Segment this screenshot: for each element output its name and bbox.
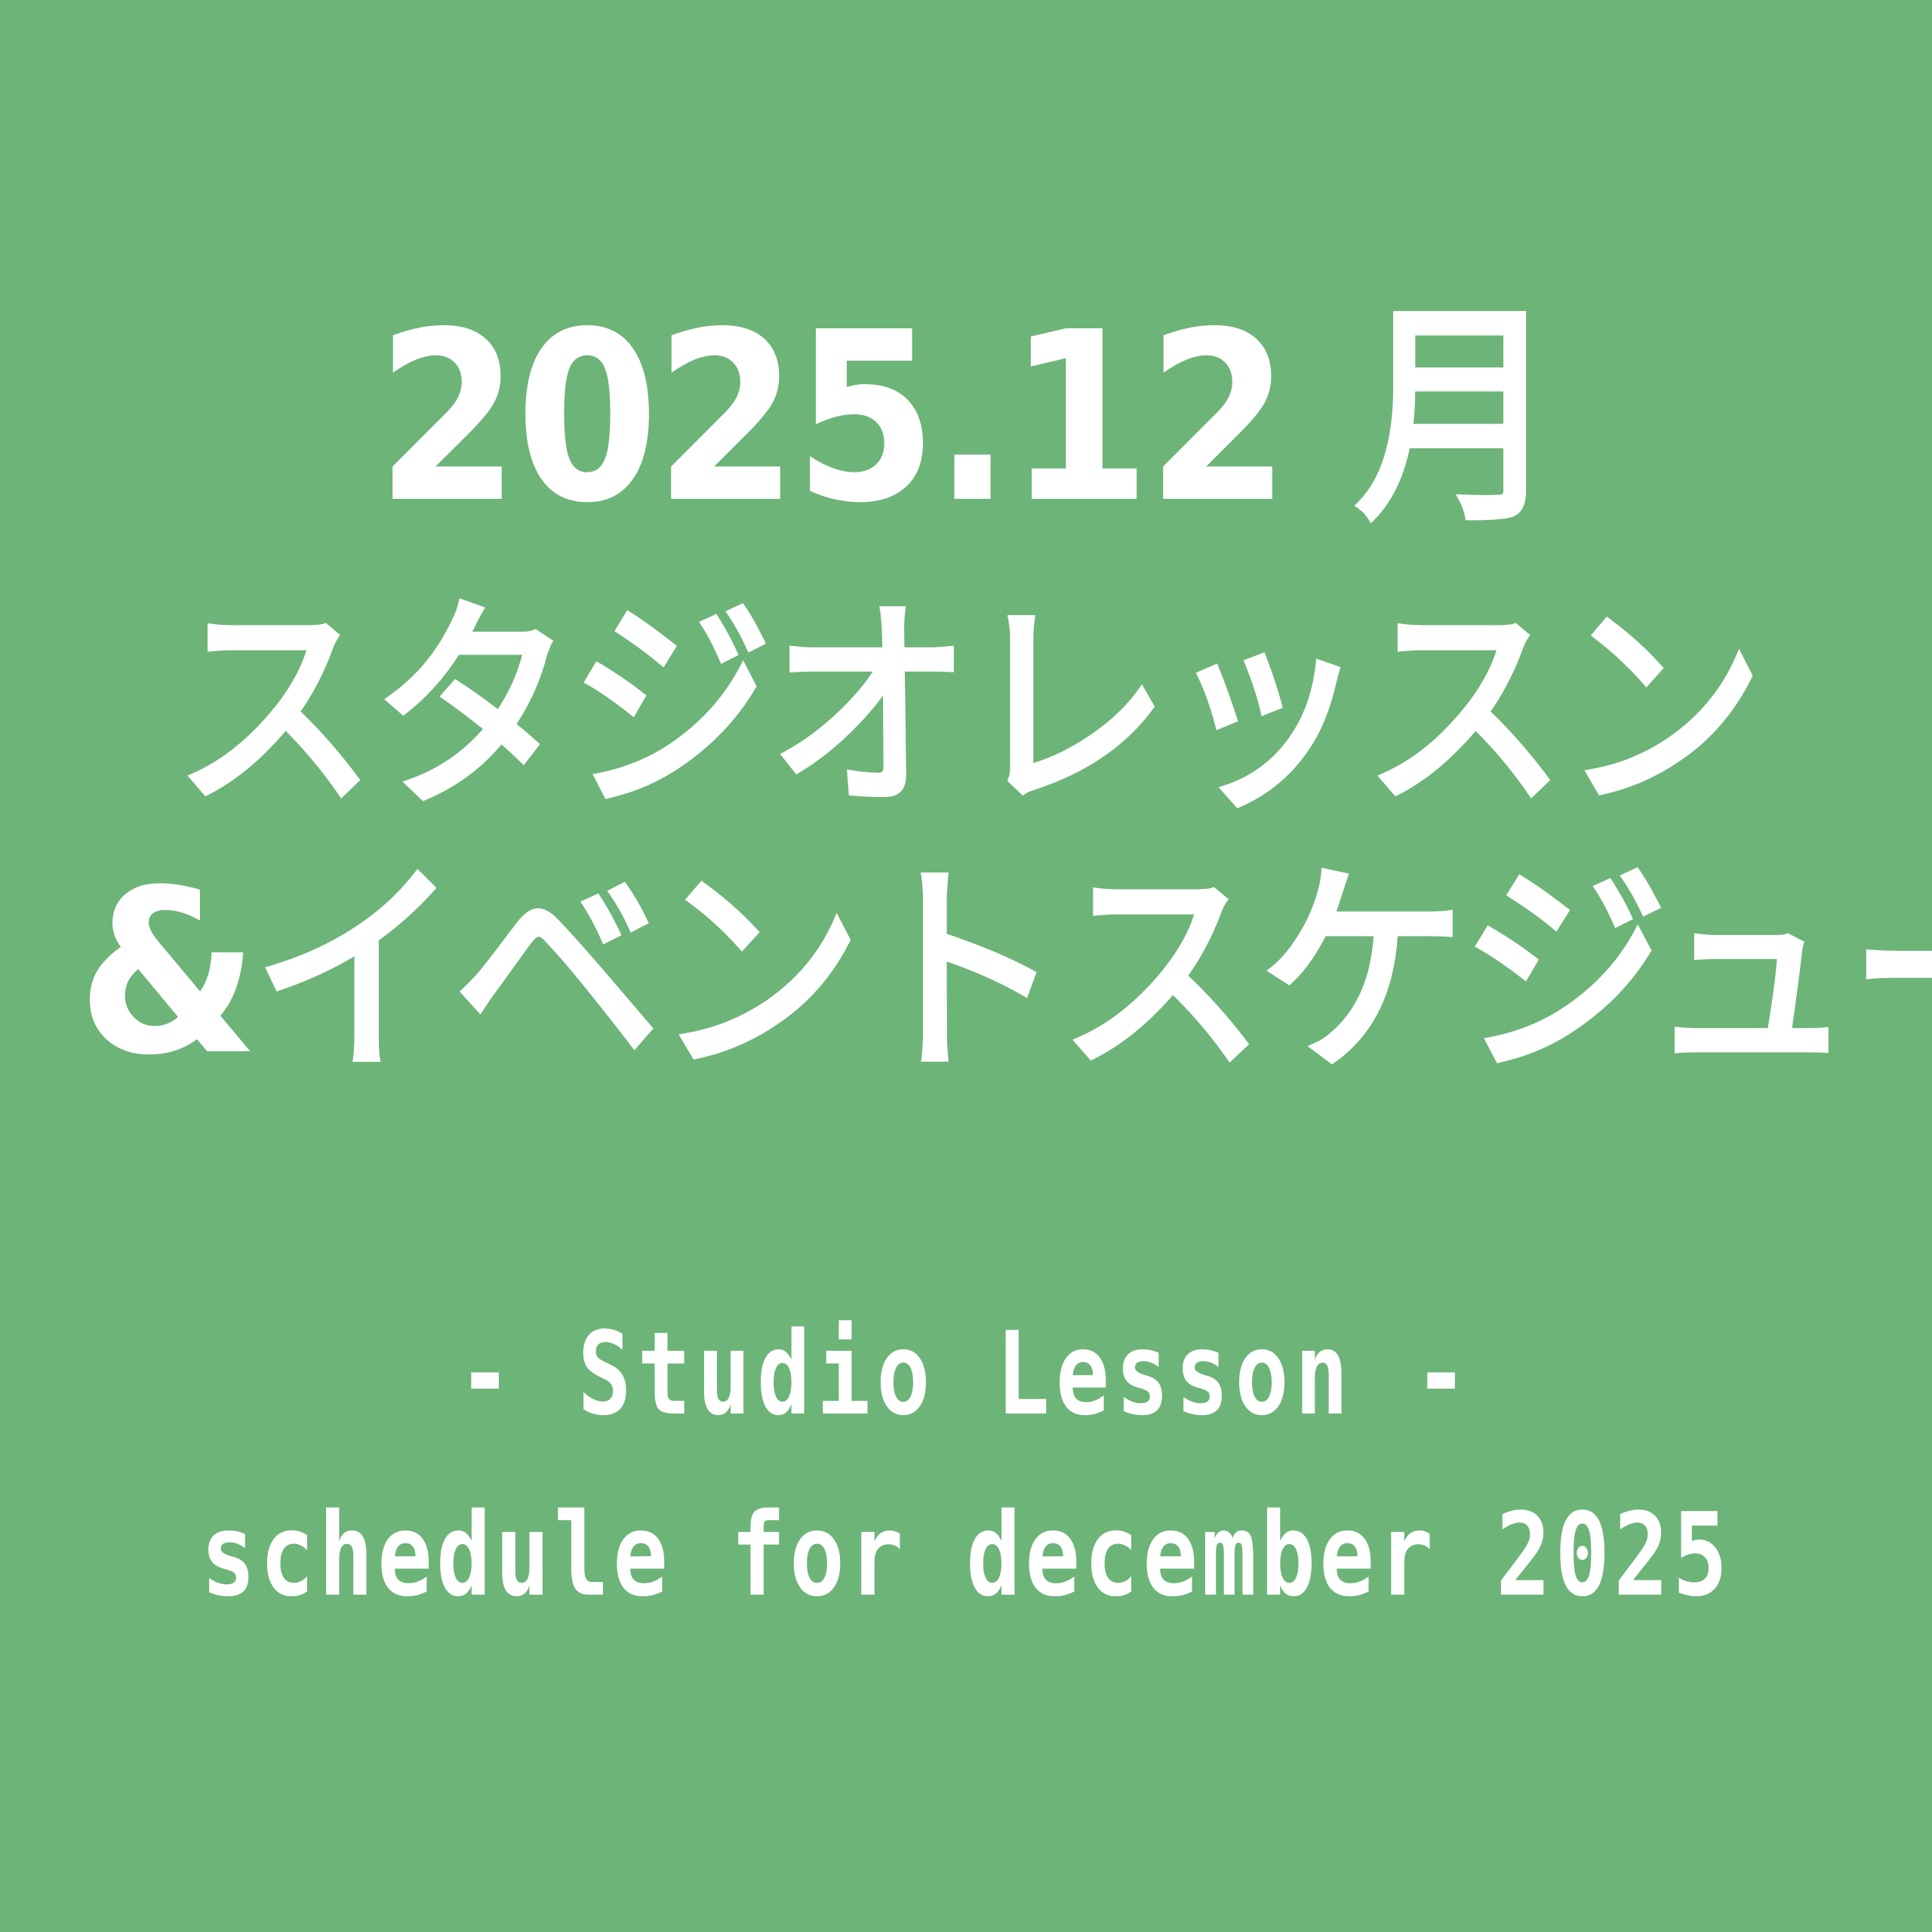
poster-subtitle-studio-lesson: - Studio Lesson - [213,1317,1720,1432]
poster-subtitle-schedule: schedule for december 2025 [193,1498,1739,1613]
poster-canvas: 2025.12 月 スタジオレッスン &イベントスケジュール - Studio … [0,0,1932,1932]
poster-title-japanese-line-1: スタジオレッスン [97,596,1835,823]
poster-title-date: 2025.12 月 [116,302,1817,536]
poster-title-japanese-line-2: &イベントスケジュール [77,860,1854,1087]
